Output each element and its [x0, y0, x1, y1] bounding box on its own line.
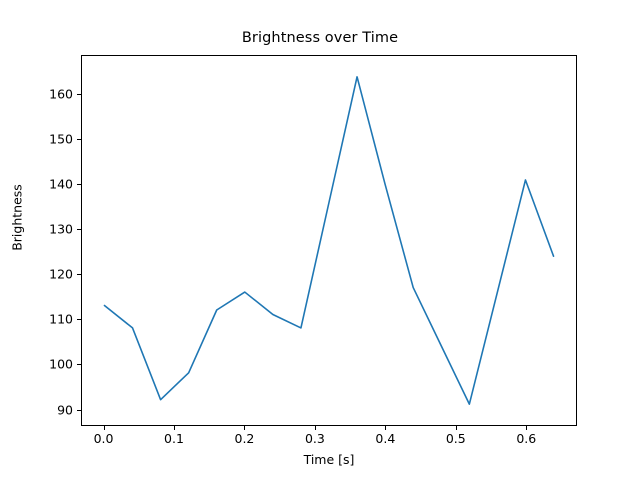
x-tick-mark: [104, 426, 105, 430]
y-tick-label: 100: [13, 357, 73, 372]
x-tick-label: 0.0: [74, 431, 134, 446]
x-tick-mark: [244, 426, 245, 430]
y-axis-label: Brightness: [10, 138, 25, 298]
y-tick-mark: [77, 139, 81, 140]
y-tick-mark: [77, 94, 81, 95]
y-tick-mark: [77, 364, 81, 365]
y-tick-label: 110: [13, 312, 73, 327]
y-tick-label: 90: [13, 402, 73, 417]
x-axis-label: Time [s]: [81, 452, 577, 467]
figure-canvas: Brightness over Time 9010011012013014015…: [0, 0, 640, 480]
x-tick-label: 0.3: [285, 431, 345, 446]
y-tick-mark: [77, 229, 81, 230]
line-plot-svg: [82, 56, 576, 425]
x-tick-label: 0.6: [496, 431, 556, 446]
x-tick-label: 0.2: [214, 431, 274, 446]
x-tick-mark: [174, 426, 175, 430]
y-tick-mark: [77, 319, 81, 320]
x-tick-label: 0.1: [144, 431, 204, 446]
y-tick-label: 160: [13, 86, 73, 101]
x-tick-mark: [456, 426, 457, 430]
x-tick-label: 0.4: [355, 431, 415, 446]
y-tick-mark: [77, 184, 81, 185]
x-tick-mark: [526, 426, 527, 430]
x-tick-mark: [315, 426, 316, 430]
chart-title: Brightness over Time: [0, 30, 640, 46]
x-tick-mark: [385, 426, 386, 430]
x-tick-label: 0.5: [426, 431, 486, 446]
plot-axes-area: [81, 55, 577, 426]
y-tick-mark: [77, 274, 81, 275]
y-tick-mark: [77, 410, 81, 411]
brightness-series-line: [104, 77, 553, 404]
